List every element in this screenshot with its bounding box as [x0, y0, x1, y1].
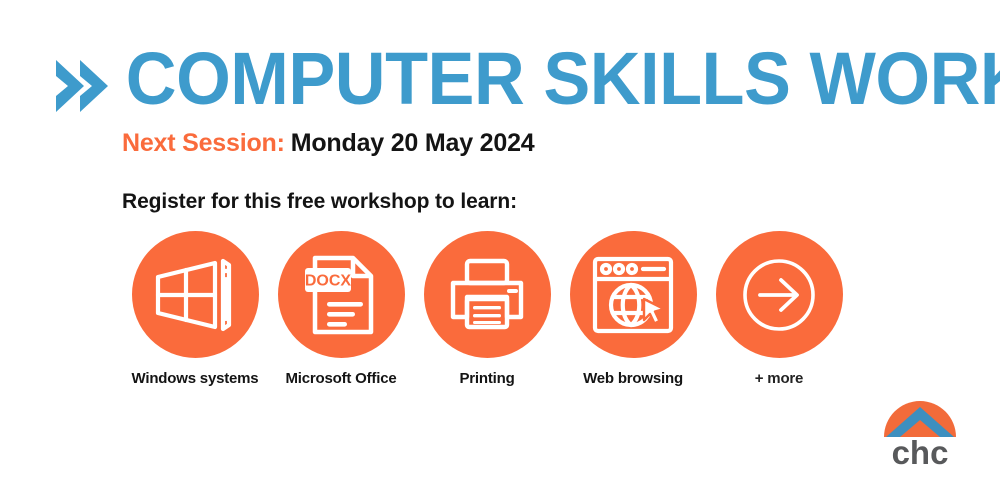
- topic-label-more: + more: [755, 370, 803, 387]
- next-session-label: Next Session:: [122, 129, 285, 157]
- topic-label-web-browsing: Web browsing: [583, 370, 683, 387]
- icon-circle-web: [570, 231, 697, 358]
- chc-logo-text: chc: [882, 436, 958, 470]
- next-session-date: Monday 20 May 2024: [291, 129, 535, 157]
- topic-label-printing: Printing: [459, 370, 514, 387]
- icon-circle-office: DOCX: [278, 231, 405, 358]
- topic-label-microsoft-office: Microsoft Office: [286, 370, 397, 387]
- poster-header: COMPUTER SKILLS WORKSHOP: [50, 44, 1000, 122]
- next-session-line: Next Session:Monday 20 May 2024: [122, 128, 534, 158]
- page-title: COMPUTER SKILLS WORKSHOP: [122, 44, 1000, 114]
- topic-item-more[interactable]: + more: [706, 231, 852, 387]
- icon-circle-more: [716, 231, 843, 358]
- topic-item-microsoft-office[interactable]: DOCX Microsoft Office: [268, 231, 414, 387]
- printer-icon: [443, 255, 531, 335]
- topic-item-printing[interactable]: Printing: [414, 231, 560, 387]
- icon-circle-windows: [132, 231, 259, 358]
- topics-icon-row: Windows systems DOCX: [122, 231, 852, 387]
- chc-logo[interactable]: chc: [882, 392, 958, 474]
- poster-canvas: COMPUTER SKILLS WORKSHOP Next Session:Mo…: [0, 0, 1000, 500]
- topic-item-web-browsing[interactable]: Web browsing: [560, 231, 706, 387]
- docx-badge-text: DOCX: [305, 272, 352, 289]
- register-prompt: Register for this free workshop to learn…: [122, 190, 517, 214]
- browser-globe-cursor-icon: [590, 253, 676, 337]
- icon-circle-printing: [424, 231, 551, 358]
- topic-label-windows-systems: Windows systems: [132, 370, 259, 387]
- arrow-right-circle-icon: [736, 252, 822, 338]
- chc-mountain-dome-logo: [882, 392, 958, 436]
- double-chevron-right-icon: [50, 50, 122, 122]
- docx-document-icon: DOCX: [301, 250, 381, 340]
- topic-item-windows-systems[interactable]: Windows systems: [122, 231, 268, 387]
- windows-systems-icon: [153, 255, 237, 335]
